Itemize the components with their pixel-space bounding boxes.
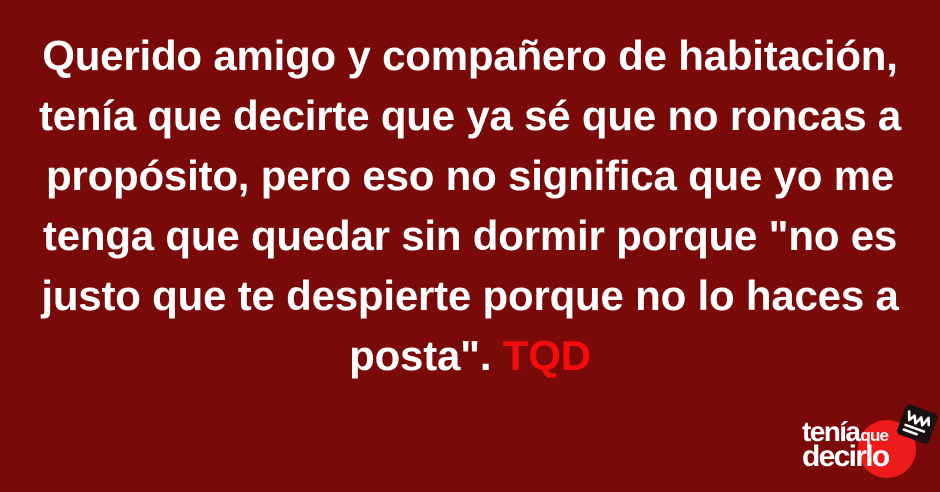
quote-line-2: tenía que decirte que ya sé que no ronca… <box>0 86 940 146</box>
quote-line-3: propósito, pero eso no significa que yo … <box>0 146 940 206</box>
tqd-logo[interactable]: teníaque decirlo <box>798 404 940 492</box>
logo-word-decirlo: decirlo <box>802 442 888 472</box>
quote-line-4: tenga que quedar sin dormir porque "no e… <box>0 206 940 266</box>
logo-wordmark: teníaque decirlo <box>802 418 932 480</box>
quote-signature: TQD <box>503 332 591 379</box>
tqd-quote-card: Querido amigo y compañero de habitación,… <box>0 0 940 492</box>
quote-line-6: posta". TQD <box>0 326 940 386</box>
quote-line-5: justo que te despierte porque no lo hace… <box>0 266 940 326</box>
quote-line-6-text: posta". <box>349 332 503 379</box>
quote-text: Querido amigo y compañero de habitación,… <box>0 26 940 386</box>
quote-line-1: Querido amigo y compañero de habitación, <box>0 26 940 86</box>
